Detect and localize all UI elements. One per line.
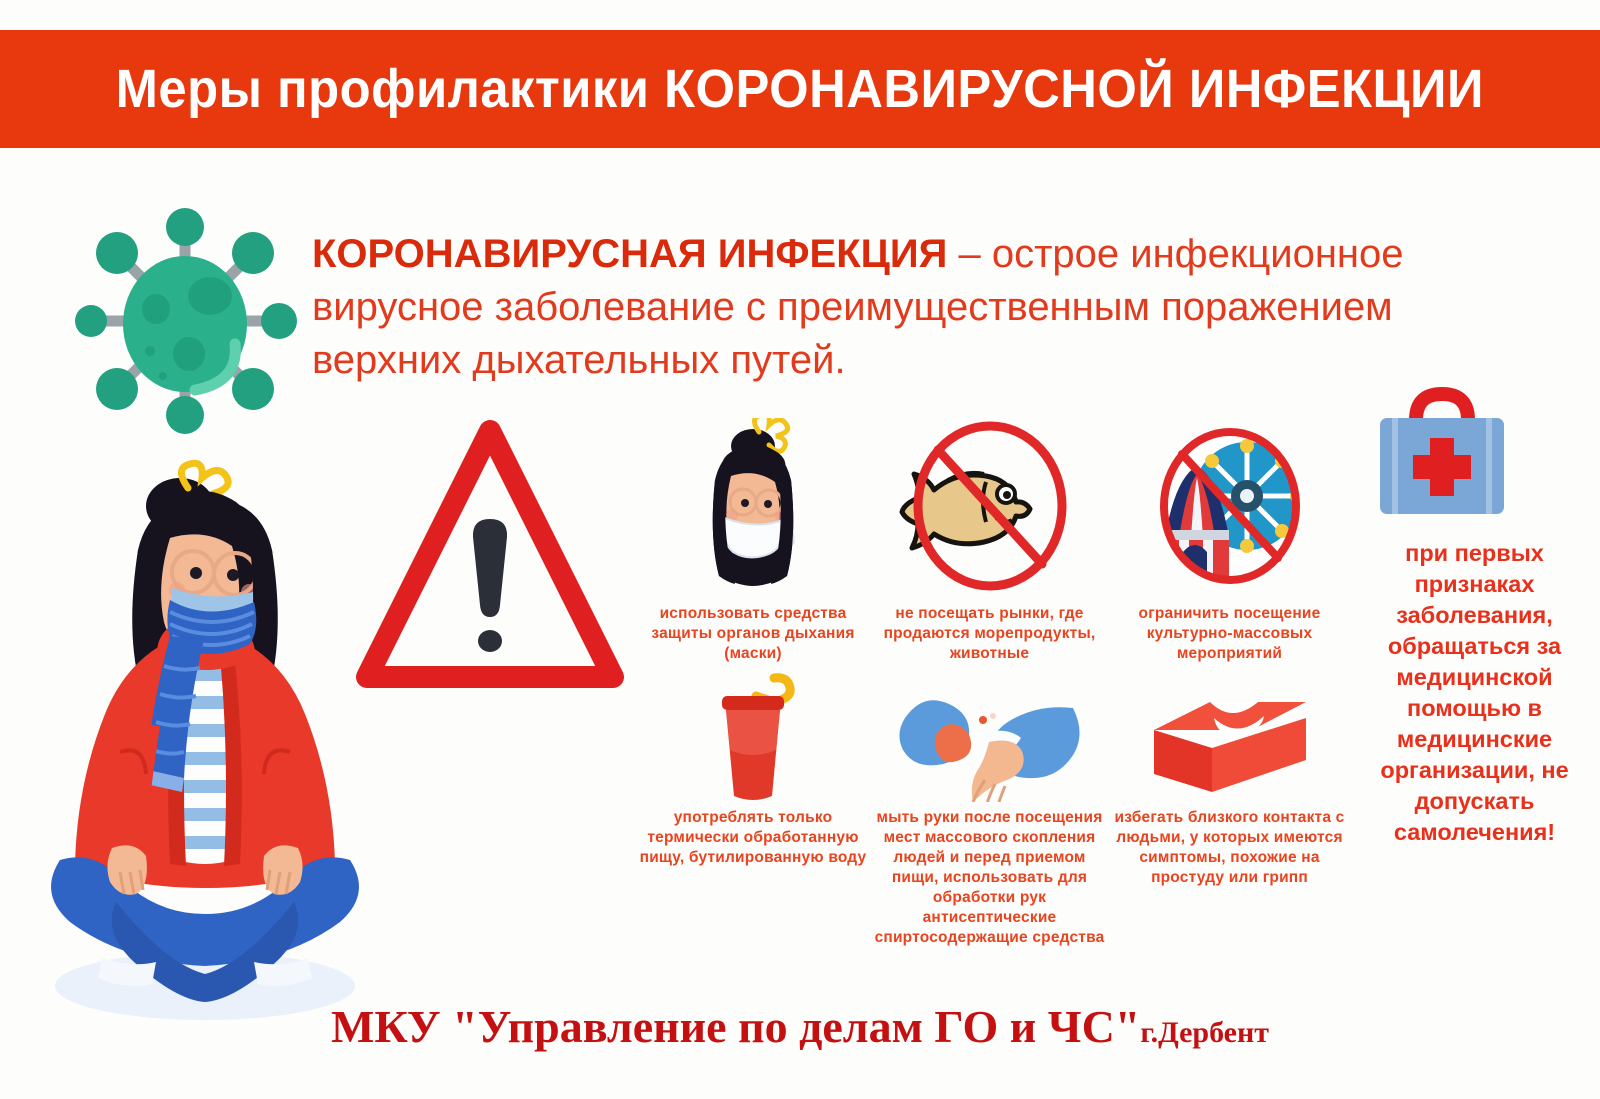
callout-text: при первых признаках заболевания, обраща… [1352, 538, 1597, 848]
seated-woman-with-mask-illustration [20, 430, 390, 1030]
callout-line: медицинские [1352, 724, 1597, 755]
drink-cup-icon [638, 672, 868, 802]
callout-line: медицинской [1352, 662, 1597, 693]
tip-events: ограничить посещение культурно-массовых … [1112, 418, 1347, 664]
tip-caption: использовать средства защиты органов дых… [638, 604, 868, 664]
tip-hands: мыть руки после посещения мест массового… [872, 672, 1107, 948]
first-aid-kit-icon [1352, 380, 1597, 530]
callout-line: самолечения! [1352, 817, 1597, 848]
footer-organization: МКУ "Управление по делам ГО и ЧС" [331, 1001, 1140, 1052]
page-title: Меры профилактики КОРОНАВИРУСНОЙ ИНФЕКЦИ… [116, 58, 1484, 120]
caption-line: не посещать рынки, где [872, 604, 1107, 624]
warning-triangle-icon [355, 415, 625, 700]
callout-line: обращаться за [1352, 631, 1597, 662]
no-mass-events-icon [1112, 418, 1347, 598]
caption-line: мыть руки после посещения [872, 808, 1107, 828]
caption-line: пищу, бутилированную воду [638, 848, 868, 868]
no-fish-market-icon [872, 418, 1107, 598]
caption-line: мероприятий [1112, 644, 1347, 664]
tip-contact: избегать близкого контакта с людьми, у к… [1112, 672, 1347, 888]
caption-line: использовать средства [638, 604, 868, 624]
intro-paragraph: КОРОНАВИРУСНАЯ ИНФЕКЦИЯ – острое инфекци… [312, 228, 1492, 387]
caption-line: животные [872, 644, 1107, 664]
callout-line: помощью в [1352, 693, 1597, 724]
caption-line: термически обработанную [638, 828, 868, 848]
coronavirus-illustration [60, 196, 310, 446]
tip-caption: ограничить посещение культурно-массовых … [1112, 604, 1347, 664]
tip-market: не посещать рынки, где продаются морепро… [872, 418, 1107, 664]
callout-line: заболевания, [1352, 600, 1597, 631]
callout-line: при первых [1352, 538, 1597, 569]
poster-root: Меры профилактики КОРОНАВИРУСНОЙ ИНФЕКЦИ… [0, 0, 1600, 1099]
caption-line: антисептические [872, 908, 1107, 928]
tip-caption: мыть руки после посещения мест массового… [872, 808, 1107, 948]
caption-line: (маски) [638, 644, 868, 664]
caption-line: пищи, использовать для [872, 868, 1107, 888]
caption-line: спиртосодержащие средства [872, 928, 1107, 948]
tip-mask: использовать средства защиты органов дых… [638, 418, 868, 664]
footer-city: г.Дербент [1140, 1016, 1269, 1049]
caption-line: простуду или грипп [1112, 868, 1347, 888]
caption-line: обработки рук [872, 888, 1107, 908]
tissue-box-icon [1112, 672, 1347, 802]
caption-line: людьми, у которых имеются [1112, 828, 1347, 848]
footer: МКУ "Управление по делам ГО и ЧС"г.Дербе… [0, 1000, 1600, 1053]
callout-line: допускать [1352, 786, 1597, 817]
caption-line: людей и перед приемом [872, 848, 1107, 868]
tip-food: употреблять только термически обработанн… [638, 672, 868, 868]
header-banner: Меры профилактики КОРОНАВИРУСНОЙ ИНФЕКЦИ… [0, 30, 1600, 148]
caption-line: культурно-массовых [1112, 624, 1347, 644]
caption-line: мест массового скопления [872, 828, 1107, 848]
caption-line: защиты органов дыхания [638, 624, 868, 644]
wash-hands-icon [872, 672, 1107, 802]
caption-line: избегать близкого контакта с [1112, 808, 1347, 828]
caption-line: симптомы, похожие на [1112, 848, 1347, 868]
tip-caption: не посещать рынки, где продаются морепро… [872, 604, 1107, 664]
intro-lead: КОРОНАВИРУСНАЯ ИНФЕКЦИЯ [312, 232, 947, 276]
tip-caption: избегать близкого контакта с людьми, у к… [1112, 808, 1347, 888]
caption-line: продаются морепродукты, [872, 624, 1107, 644]
callout-line: организации, не [1352, 755, 1597, 786]
first-aid-callout: при первых признаках заболевания, обраща… [1352, 380, 1597, 848]
caption-line: употреблять только [638, 808, 868, 828]
masked-woman-icon [638, 418, 868, 598]
caption-line: ограничить посещение [1112, 604, 1347, 624]
callout-line: признаках [1352, 569, 1597, 600]
tip-caption: употреблять только термически обработанн… [638, 808, 868, 868]
